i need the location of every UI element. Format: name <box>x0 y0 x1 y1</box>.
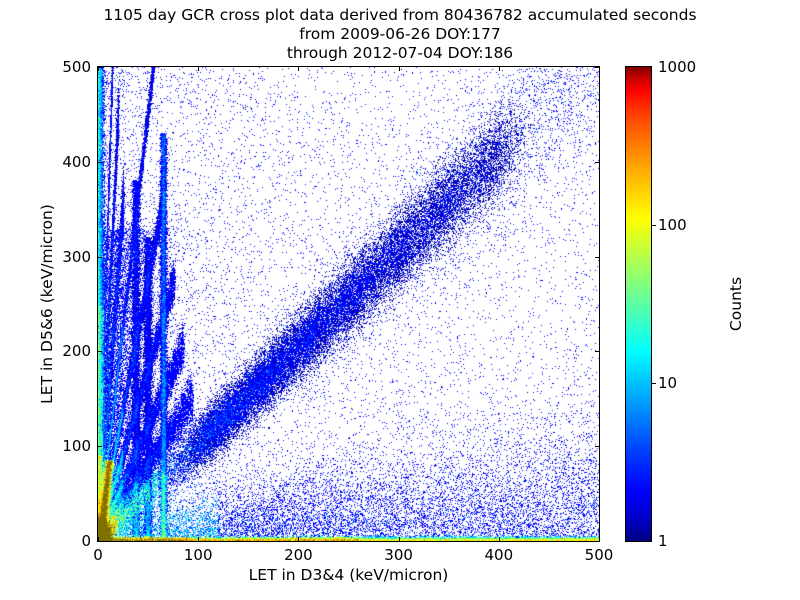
y-tick-mark <box>97 446 102 447</box>
colorbar-tick-label: 100 <box>658 216 687 234</box>
plot-axes <box>97 66 600 542</box>
plot-title: 1105 day GCR cross plot data derived fro… <box>0 6 800 63</box>
colorbar-tick-label: 1000 <box>658 58 696 76</box>
title-line-1: 1105 day GCR cross plot data derived fro… <box>0 6 800 25</box>
colorbar-tick-label: 10 <box>658 374 677 392</box>
density-heatmap <box>98 67 599 541</box>
y-tick-mark <box>595 257 600 258</box>
colorbar-label: Counts <box>727 66 745 542</box>
y-tick-label: 200 <box>62 342 91 360</box>
y-tick-mark <box>97 162 102 163</box>
colorbar-gradient <box>625 66 652 542</box>
y-tick-mark <box>97 351 102 352</box>
y-tick-mark <box>595 67 600 68</box>
y-tick-mark <box>97 257 102 258</box>
x-tick-mark <box>499 66 500 71</box>
y-axis-label: LET in D5&6 (keV/micron) <box>38 66 56 542</box>
figure-canvas: 1105 day GCR cross plot data derived fro… <box>0 0 800 600</box>
title-line-2: from 2009-06-26 DOY:177 <box>0 25 800 44</box>
x-tick-mark <box>198 537 199 542</box>
y-tick-label: 400 <box>62 153 91 171</box>
x-tick-mark <box>599 66 600 71</box>
x-tick-label: 100 <box>184 546 213 564</box>
x-tick-mark <box>298 66 299 71</box>
x-tick-mark <box>198 66 199 71</box>
y-tick-label: 0 <box>81 532 91 550</box>
x-tick-label: 200 <box>284 546 313 564</box>
y-tick-mark <box>595 351 600 352</box>
y-tick-mark <box>595 162 600 163</box>
y-tick-mark <box>595 446 600 447</box>
y-tick-label: 500 <box>62 58 91 76</box>
colorbar-tick-label: 1 <box>658 532 668 550</box>
x-tick-mark <box>298 537 299 542</box>
x-tick-label: 0 <box>93 546 103 564</box>
x-tick-mark <box>599 537 600 542</box>
x-tick-mark <box>499 537 500 542</box>
y-tick-mark <box>97 541 102 542</box>
y-tick-label: 300 <box>62 248 91 266</box>
x-tick-mark <box>98 537 99 542</box>
y-tick-mark <box>97 67 102 68</box>
colorbar-container: 1000100101 <box>625 66 652 542</box>
x-tick-mark <box>399 537 400 542</box>
colorbar-tick-mark <box>651 383 656 384</box>
x-tick-mark <box>399 66 400 71</box>
x-tick-label: 400 <box>484 546 513 564</box>
y-tick-mark <box>595 541 600 542</box>
x-tick-label: 300 <box>384 546 413 564</box>
colorbar-tick-mark <box>651 225 656 226</box>
x-tick-label: 500 <box>585 546 614 564</box>
y-tick-label: 100 <box>62 437 91 455</box>
x-axis-label: LET in D3&4 (keV/micron) <box>97 566 600 584</box>
